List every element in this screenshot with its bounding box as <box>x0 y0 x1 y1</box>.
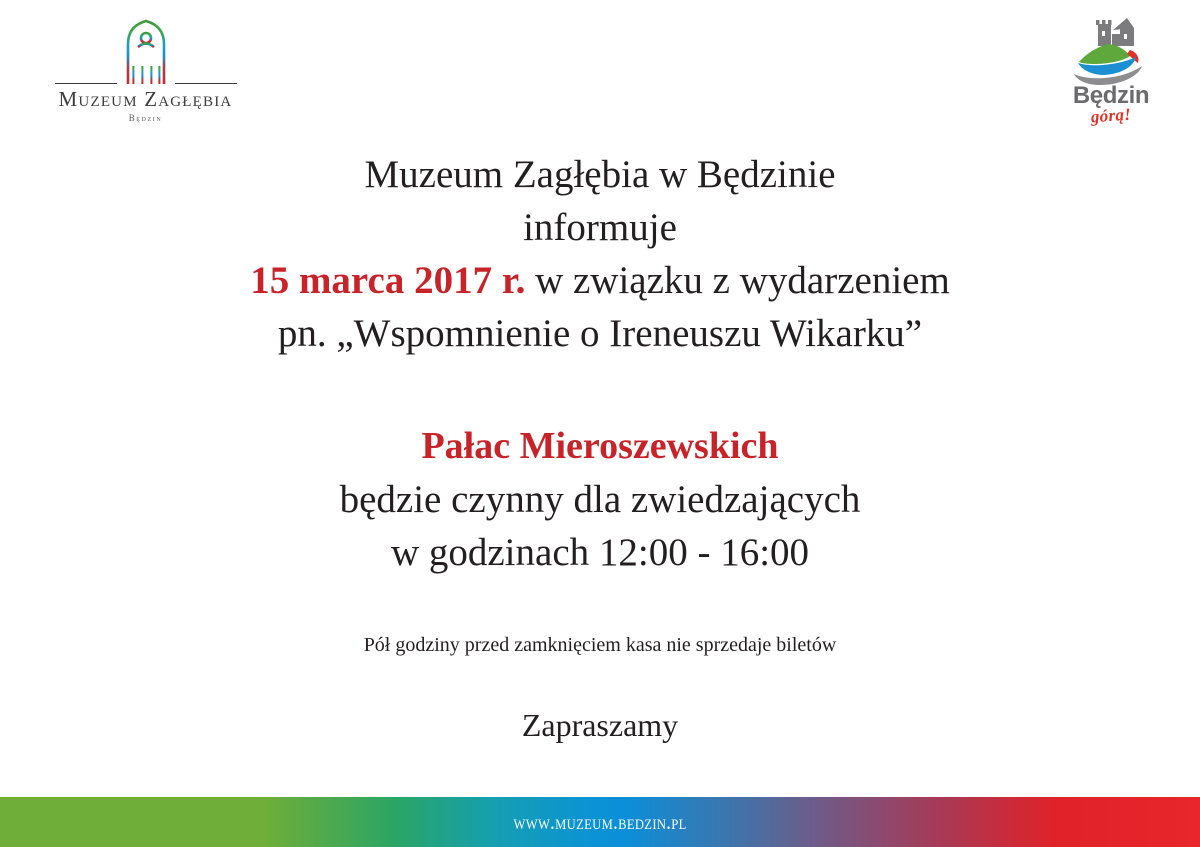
poster-canvas: Muzeum Zagłębia Będzin <box>0 0 1200 847</box>
museum-logo-subtitle: Będzin <box>38 113 253 123</box>
intro-line-2: informuje <box>0 201 1200 254</box>
event-date: 15 marca 2017 r. <box>250 259 525 302</box>
footer-website-url[interactable]: www.muzeum.bedzin.pl <box>513 809 686 835</box>
section-spacer <box>0 360 1200 420</box>
announcement-body: Muzeum Zagłębia w Będzinie informuje 15 … <box>0 148 1200 745</box>
open-line: będzie czynny dla zwiedzających <box>0 473 1200 526</box>
ticket-note: Pół godziny przed zamknięciem kasa nie s… <box>0 631 1200 659</box>
museum-logo-emblem-row <box>38 16 253 88</box>
bedzin-castle-hill-icon <box>1064 14 1159 86</box>
hours-line: w godzinach 12:00 - 16:00 <box>0 526 1200 579</box>
date-line: 15 marca 2017 r. w związku z wydarzeniem <box>0 254 1200 307</box>
bedzin-logo: Będzin górą! <box>1056 14 1166 126</box>
museum-logo-title: Muzeum Zagłębia <box>38 88 253 110</box>
logo-rule-left <box>55 83 117 84</box>
gothic-window-icon <box>123 18 169 88</box>
venue-name: Pałac Mieroszewskich <box>0 420 1200 473</box>
event-title-line: pn. „Wspomnienie o Ireneuszu Wikarku” <box>0 307 1200 360</box>
footer-gradient-bar: www.muzeum.bedzin.pl <box>0 797 1200 847</box>
closing-line: Zapraszamy <box>0 705 1200 745</box>
intro-line-1: Muzeum Zagłębia w Będzinie <box>0 148 1200 201</box>
logo-rule-right <box>175 83 237 84</box>
museum-logo: Muzeum Zagłębia Będzin <box>38 16 253 126</box>
date-line-rest: w związku z wydarzeniem <box>525 259 949 302</box>
